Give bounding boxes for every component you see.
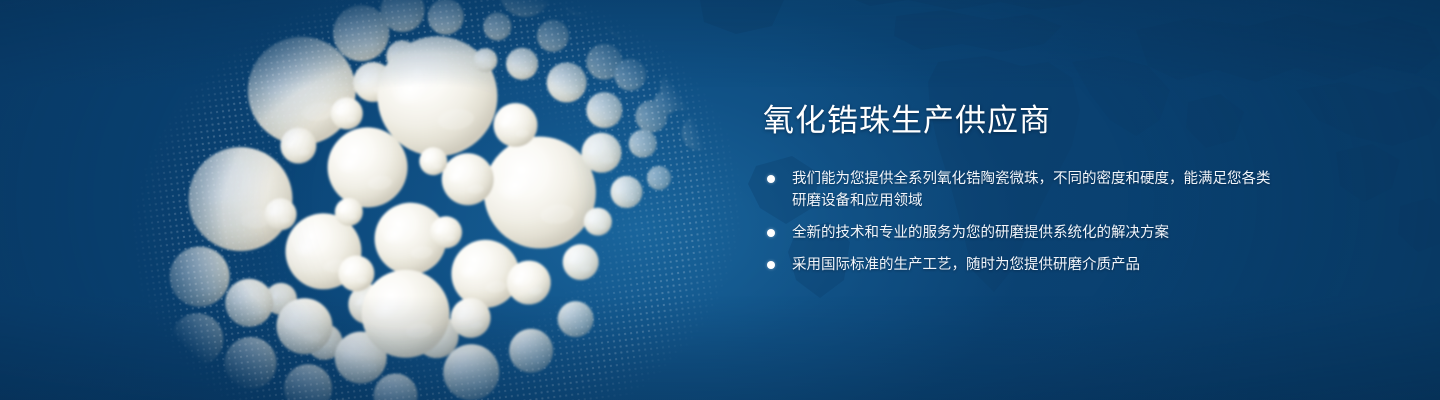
banner-bullet-list: 我们能为您提供全系列氧化锆陶瓷微珠，不同的密度和硬度，能满足您各类研磨设备和应用… (763, 168, 1283, 276)
bullet-item-2: 全新的技术和专业的服务为您的研磨提供系统化的解决方案 (763, 222, 1283, 244)
banner-headline: 氧化锆珠生产供应商 (763, 104, 1283, 138)
hero-banner: 氧化锆珠生产供应商 我们能为您提供全系列氧化锆陶瓷微珠，不同的密度和硬度，能满足… (0, 0, 1440, 400)
bullet-item-1: 我们能为您提供全系列氧化锆陶瓷微珠，不同的密度和硬度，能满足您各类研磨设备和应用… (763, 168, 1283, 212)
bullet-text-3: 采用国际标准的生产工艺，随时为您提供研磨介质产品 (792, 254, 1283, 276)
bullet-dot-icon (767, 229, 775, 237)
banner-copy: 氧化锆珠生产供应商 我们能为您提供全系列氧化锆陶瓷微珠，不同的密度和硬度，能满足… (763, 104, 1283, 276)
bullet-dot-icon (767, 261, 775, 269)
bullet-text-1: 我们能为您提供全系列氧化锆陶瓷微珠，不同的密度和硬度，能满足您各类研磨设备和应用… (792, 168, 1283, 212)
bullet-text-2: 全新的技术和专业的服务为您的研磨提供系统化的解决方案 (792, 222, 1283, 244)
bullet-dot-icon (767, 175, 775, 183)
bullet-item-3: 采用国际标准的生产工艺，随时为您提供研磨介质产品 (763, 254, 1283, 276)
